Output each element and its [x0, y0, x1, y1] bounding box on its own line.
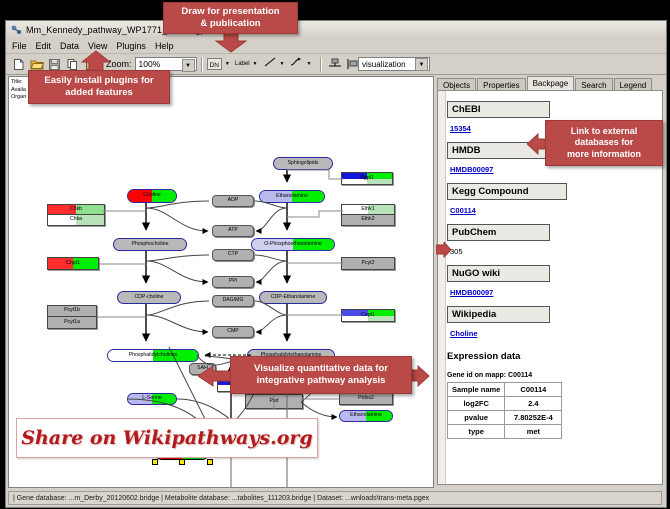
db-header-nugo: NuGO wiki [447, 265, 550, 282]
tab-properties[interactable]: Properties [477, 78, 525, 90]
callout-visualize-line2: integrative pathway analysis [257, 375, 386, 387]
label-dropdown-cap: Label [235, 61, 250, 67]
line-dropdown[interactable]: ▼ [263, 55, 288, 73]
label-dropdown[interactable]: Label▼ [235, 61, 261, 67]
node-label: Psd [270, 399, 279, 404]
node-label: Phosphatidylcholines [129, 353, 178, 358]
expression-table: Sample name C00114 log2FC 2.4 pvalue 7.8… [447, 382, 562, 439]
align-center-icon[interactable] [326, 56, 343, 73]
db-header-wikipedia: Wikipedia [447, 306, 550, 323]
node-label: Choline [143, 193, 161, 198]
callout-draw-arrow [214, 31, 248, 53]
datanode-dropdown-cap: DN [207, 58, 222, 70]
callout-draw: Draw for presentation & publication [163, 2, 298, 34]
node-label: Ethk2 [361, 217, 374, 222]
menu-file[interactable]: File [12, 41, 27, 51]
toolbar-separator [201, 57, 203, 72]
node-label: Ethanolamine [276, 194, 308, 199]
node-label: L-Serine [142, 396, 162, 401]
node-label: Pcyt1a [64, 320, 80, 325]
chevron-down-icon[interactable]: ▼ [253, 61, 258, 67]
node-label: Chka [70, 217, 82, 222]
window-titlebar: Mm_Kennedy_pathway_WP1771_45176.gpml [6, 21, 666, 39]
cell-value: 2.4 [505, 397, 562, 411]
db-link-hmdb[interactable]: HMDB00097 [450, 165, 493, 174]
callout-draw-line1: Draw for presentation [181, 6, 279, 18]
node-label: DAG/MG [222, 298, 243, 303]
node-label: Chkb [70, 207, 82, 212]
node-label: CDP-Ethanolamine [271, 295, 315, 300]
cell-label: Sample name [448, 383, 505, 397]
node-label: Ethk1 [361, 207, 374, 212]
menu-data[interactable]: Data [60, 41, 79, 51]
zoom-value: 100% [139, 59, 161, 69]
tab-backpage[interactable]: Backpage [527, 76, 575, 90]
statusbar-text: | Gene database: ...m_Derby_20120602.bri… [13, 495, 429, 502]
node-label: Cept1 [361, 313, 375, 318]
callout-plugins-line2: added features [65, 87, 133, 99]
node-label: O-Phosphoethanolamine [264, 242, 321, 247]
node-label: CDP-choline [134, 295, 163, 300]
cell-value: 7.80252E-4 [505, 411, 562, 425]
db-link-chebi[interactable]: 15354 [450, 124, 471, 133]
selection-handle[interactable] [179, 459, 185, 465]
node-label: Pcyt2 [362, 261, 375, 266]
callout-plugins-arrow [80, 50, 112, 72]
node-label: Ethanolamine [350, 413, 382, 418]
node-label: ATP [228, 228, 238, 233]
line-icon [263, 55, 277, 73]
cell-label: log2FC [448, 397, 505, 411]
callout-visualize-arrow-left [198, 365, 232, 387]
callout-expression-arrow [436, 242, 452, 258]
cell-label: type [448, 425, 505, 439]
chevron-down-icon[interactable]: ▼ [182, 59, 195, 72]
gene-id-line: Gene id on mapp: C00114 [447, 372, 659, 379]
cell-label: pvalue [448, 411, 505, 425]
interaction-dropdown[interactable]: ▼ [289, 55, 314, 73]
node-label: Chpt1 [66, 261, 80, 266]
chevron-down-icon[interactable]: ▼ [280, 61, 285, 67]
db-header-pubchem: PubChem [447, 224, 550, 241]
node-label: Sgpl1 [360, 176, 373, 181]
interaction-icon [289, 55, 303, 73]
node-label: ADP [228, 198, 239, 203]
menu-view[interactable]: View [88, 41, 107, 51]
right-panel-tabs: Objects Properties Backpage Search Legen… [434, 76, 664, 90]
db-header-kegg: Kegg Compound [447, 183, 567, 200]
menu-edit[interactable]: Edit [36, 41, 52, 51]
db-link-nugo[interactable]: HMDB00097 [450, 288, 493, 297]
db-link-kegg[interactable]: C00114 [450, 206, 476, 215]
screenshot-root: Mm_Kennedy_pathway_WP1771_45176.gpml Fil… [0, 0, 670, 509]
table-row: type met [448, 425, 562, 439]
table-row: Sample name C00114 [448, 383, 562, 397]
table-row: pvalue 7.80252E-4 [448, 411, 562, 425]
toolbar-separator [320, 57, 322, 72]
expression-data-title: Expression data [447, 351, 659, 362]
callout-visualize: Visualize quantitative data for integrat… [230, 356, 412, 394]
visualization-combo[interactable]: visualization ▼ [358, 57, 430, 71]
callout-link-line1: Link to external [571, 126, 638, 138]
callout-plugins-line1: Easily install plugins for [44, 75, 153, 87]
node-label: Phosphocholine [132, 242, 169, 247]
chevron-down-icon[interactable]: ▼ [306, 61, 311, 67]
node-label: Sphingolipids [288, 161, 319, 166]
selection-handle[interactable] [152, 459, 158, 465]
visualization-value: visualization [362, 60, 406, 69]
callout-share-text: Share on Wikipathways.org [21, 427, 312, 449]
node-label: Ptdss2 [358, 396, 374, 401]
callout-link-line3: more information [567, 149, 641, 161]
cell-value: C00114 [505, 383, 562, 397]
callout-visualize-line1: Visualize quantitative data for [254, 363, 388, 375]
datanode-dropdown[interactable]: DN▼ [207, 58, 233, 70]
callout-link: Link to external databases for more info… [545, 120, 663, 166]
statusbar: | Gene database: ...m_Derby_20120602.bri… [8, 491, 662, 505]
db-header-chebi: ChEBI [447, 101, 550, 118]
node-label: CTP [228, 252, 238, 257]
callout-link-line2: databases for [575, 137, 634, 149]
callout-plugins: Easily install plugins for added feature… [28, 70, 170, 104]
tab-legend[interactable]: Legend [614, 78, 653, 90]
menu-plugins[interactable]: Plugins [116, 41, 146, 51]
tab-search[interactable]: Search [575, 78, 612, 90]
callout-share: Share on Wikipathways.org [16, 418, 318, 458]
new-file-icon[interactable] [10, 56, 27, 73]
zoom-combo[interactable]: 100% ▼ [135, 57, 197, 71]
chevron-down-icon[interactable]: ▼ [225, 61, 230, 67]
node-label: PPi [229, 279, 237, 284]
chevron-down-icon[interactable]: ▼ [415, 58, 428, 71]
node-label: CMP [227, 329, 239, 334]
selection-handle[interactable] [207, 459, 213, 465]
menu-help[interactable]: Help [155, 41, 174, 51]
backpage-scrollbar[interactable] [438, 91, 446, 484]
node-label: Pcyt1b [64, 308, 80, 313]
db-link-wikipedia[interactable]: Choline [450, 329, 478, 338]
tab-objects[interactable]: Objects [437, 78, 476, 90]
pathvisio-app-icon [10, 24, 22, 36]
table-row: log2FC 2.4 [448, 397, 562, 411]
cell-value: met [505, 425, 562, 439]
callout-draw-line2: & publication [200, 18, 260, 30]
